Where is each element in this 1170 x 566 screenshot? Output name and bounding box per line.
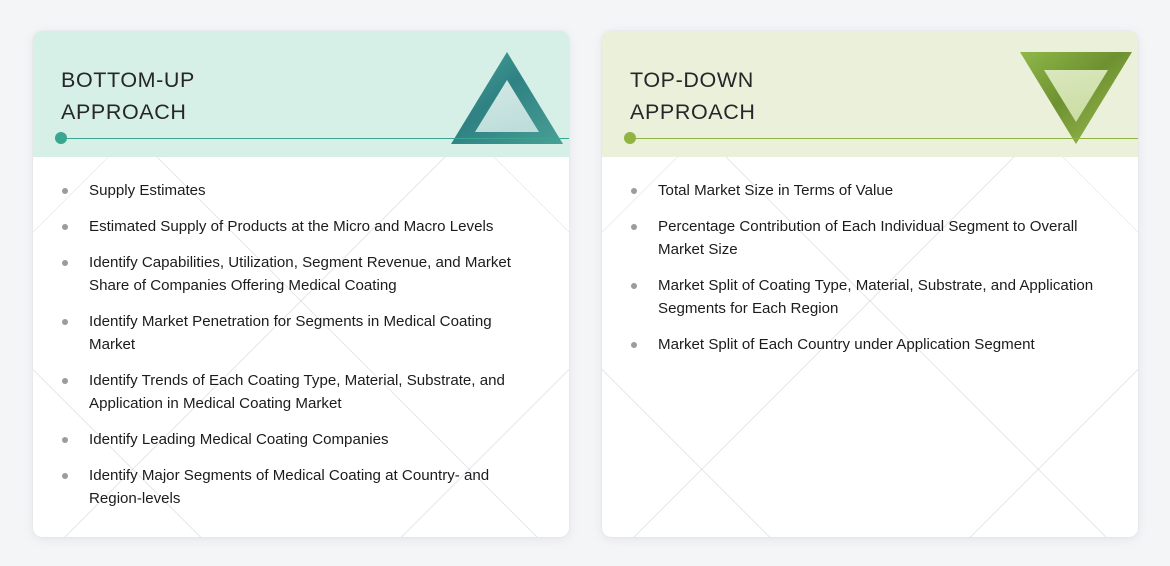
card-top-down-approach: TOP-DOWN APPROACH (602, 31, 1138, 537)
list-item-label: Identify Trends of Each Coating Type, Ma… (89, 372, 505, 412)
list-item-label: Percentage Contribution of Each Individu… (658, 218, 1078, 258)
list-item: Identify Trends of Each Coating Type, Ma… (60, 369, 539, 415)
divider-line (66, 138, 569, 139)
list-item-label: Estimated Supply of Products at the Micr… (89, 218, 493, 235)
list-item: Identify Leading Medical Coating Compani… (60, 428, 539, 451)
list-item: Supply Estimates (60, 179, 539, 202)
header-divider-top-down (624, 132, 1138, 144)
list-item-label: Supply Estimates (89, 182, 206, 199)
bullet-list-top-down: Total Market Size in Terms of Value Perc… (629, 179, 1108, 356)
list-item: Identify Market Penetration for Segments… (60, 310, 539, 356)
page-title-top-down: TOP-DOWN APPROACH (630, 64, 755, 128)
bullet-dot-icon (62, 378, 68, 384)
bullet-dot-icon (62, 260, 68, 266)
bullet-list-bottom-up: Supply Estimates Estimated Supply of Pro… (60, 179, 539, 510)
divider-line (635, 138, 1138, 139)
bullet-dot-icon (631, 283, 637, 289)
list-item: Percentage Contribution of Each Individu… (629, 215, 1108, 261)
list-item-label: Identify Major Segments of Medical Coati… (89, 467, 489, 507)
card-body-bottom-up: Supply Estimates Estimated Supply of Pro… (33, 157, 569, 537)
bullet-dot-icon (62, 319, 68, 325)
list-item: Market Split of Coating Type, Material, … (629, 274, 1108, 320)
bullet-dot-icon (62, 473, 68, 479)
list-item: Identify Major Segments of Medical Coati… (60, 464, 539, 510)
page-title-bottom-up: BOTTOM-UP APPROACH (61, 64, 195, 128)
list-item: Identify Capabilities, Utilization, Segm… (60, 251, 539, 297)
card-bottom-up-approach: BOTTOM-UP APPROACH (33, 31, 569, 537)
bullet-dot-icon (631, 224, 637, 230)
list-item-label: Identify Market Penetration for Segments… (89, 313, 492, 353)
bullet-dot-icon (62, 437, 68, 443)
list-item-label: Total Market Size in Terms of Value (658, 182, 893, 199)
list-item-label: Identify Leading Medical Coating Compani… (89, 431, 389, 448)
bullet-dot-icon (631, 188, 637, 194)
bullet-dot-icon (62, 224, 68, 230)
bullet-dot-icon (631, 342, 637, 348)
header-divider-bottom-up (55, 132, 569, 144)
list-item: Market Split of Each Country under Appli… (629, 333, 1108, 356)
list-item-label: Identify Capabilities, Utilization, Segm… (89, 254, 511, 294)
card-header-bottom-up: BOTTOM-UP APPROACH (33, 31, 569, 157)
card-body-top-down: Total Market Size in Terms of Value Perc… (602, 157, 1138, 537)
approach-cards-container: BOTTOM-UP APPROACH (0, 0, 1170, 566)
list-item: Total Market Size in Terms of Value (629, 179, 1108, 202)
list-item: Estimated Supply of Products at the Micr… (60, 215, 539, 238)
list-item-label: Market Split of Each Country under Appli… (658, 336, 1035, 353)
bullet-dot-icon (62, 188, 68, 194)
card-header-top-down: TOP-DOWN APPROACH (602, 31, 1138, 157)
infographic-page: BOTTOM-UP APPROACH (0, 0, 1170, 566)
list-item-label: Market Split of Coating Type, Material, … (658, 277, 1093, 317)
